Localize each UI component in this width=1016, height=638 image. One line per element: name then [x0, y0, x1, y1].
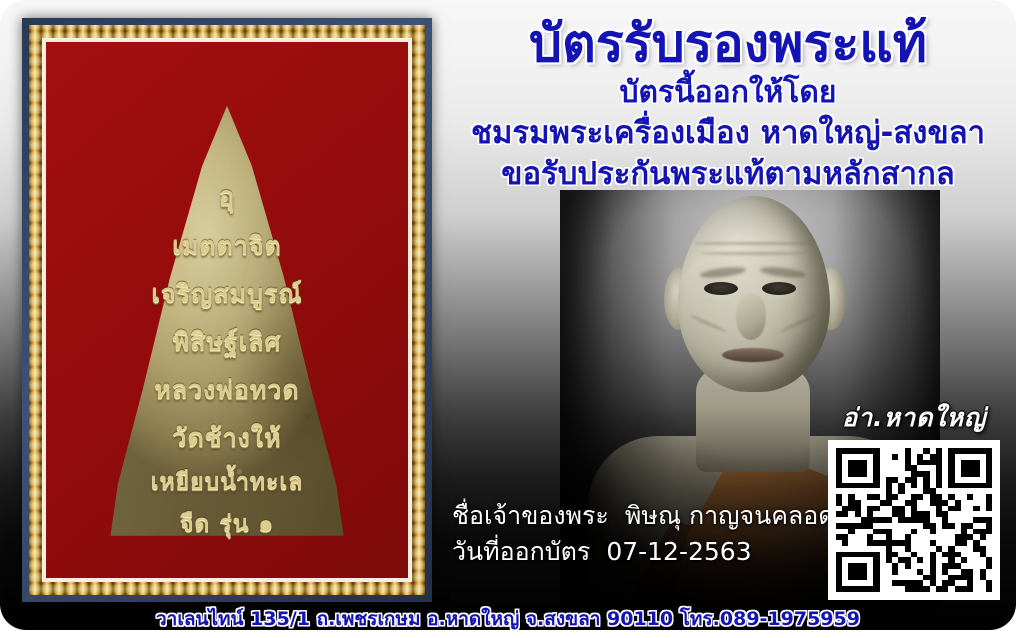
- owner-name-value: พิษณุ กาญจนคลอด: [625, 501, 835, 530]
- amulet-image: อุ เมตตาจิต เจริญสมบูรณ์ พิสิษฐ์เลิศ หลว…: [103, 106, 351, 536]
- issued-by-label: บัตรนี้ออกให้โดย: [440, 74, 1016, 112]
- header-block: บัตรรับรองพระแท้ บัตรนี้ออกให้โดย ชมรมพร…: [440, 16, 1016, 196]
- card-background: อุ เมตตาจิต เจริญสมบูรณ์ พิสิษฐ์เลิศ หลว…: [0, 0, 1016, 630]
- issue-date-value: 07-12-2563: [606, 537, 751, 566]
- frame-red-mat: อุ เมตตาจิต เจริญสมบูรณ์ พิสิษฐ์เลิศ หลว…: [46, 42, 408, 578]
- page-title: บัตรรับรองพระแท้: [440, 16, 1016, 72]
- frame-gold-band: อุ เมตตาจิต เจริญสมบูรณ์ พิสิษฐ์เลิศ หลว…: [29, 25, 425, 595]
- certificate-card: อุ เมตตาจิต เจริญสมบูรณ์ พิสิษฐ์เลิศ หลว…: [0, 0, 1016, 638]
- shop-watermark: อ่า.หาดใหญ่: [842, 398, 986, 438]
- issue-date-label: วันที่ออกบัตร: [452, 537, 590, 566]
- qr-code-matrix: [836, 448, 992, 592]
- amulet-texture: [103, 106, 351, 536]
- shop-address-line: วาเลนไทน์ 135/1 ถ.เพชรเกษม อ.หาดใหญ่ จ.ส…: [0, 604, 1016, 630]
- owner-info-block: ชื่อเจ้าของพระพิษณุ กาญจนคลอด วันที่ออกบ…: [452, 498, 834, 571]
- amulet-picture-frame: อุ เมตตาจิต เจริญสมบูรณ์ พิสิษฐ์เลิศ หลว…: [22, 18, 432, 602]
- frame-inner-liner: อุ เมตตาจิต เจริญสมบูรณ์ พิสิษฐ์เลิศ หลว…: [42, 38, 412, 582]
- qr-code[interactable]: [828, 440, 1000, 600]
- owner-name-label: ชื่อเจ้าของพระ: [452, 501, 609, 530]
- owner-name-row: ชื่อเจ้าของพระพิษณุ กาญจนคลอด: [452, 498, 834, 534]
- issuer-name: ชมรมพระเครื่องเมือง หาดใหญ่-สงขลา: [440, 113, 1016, 155]
- issue-date-row: วันที่ออกบัตร07-12-2563: [452, 534, 834, 570]
- guarantee-statement: ขอรับประกันพระแท้ตามหลักสากล: [440, 154, 1016, 196]
